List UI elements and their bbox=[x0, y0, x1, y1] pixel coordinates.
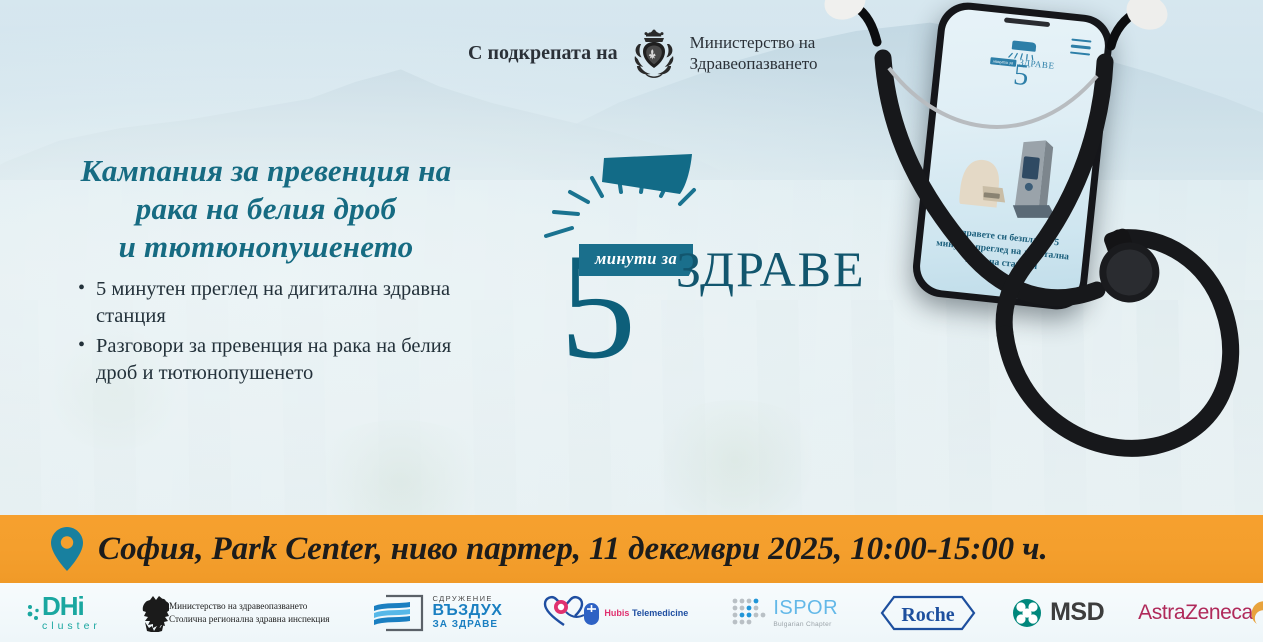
event-details-text: София, Park Center, ниво партер, 11 деке… bbox=[98, 531, 1048, 568]
ministry-line-1: Министерство на bbox=[690, 32, 818, 53]
vazduh-line-2: ВЪЗДУХ bbox=[433, 603, 503, 620]
sponsor-dhi-cluster: DHi cluster bbox=[26, 593, 101, 632]
ministry-line-2: Здравеопазването bbox=[690, 53, 818, 74]
dhi-dots-icon bbox=[26, 602, 42, 624]
sponsor-vazduh-za-zdrave: СДРУЖЕНИЕ ВЪЗДУХ ЗА ЗДРАВЕ bbox=[372, 592, 503, 634]
heart-mouse-icon bbox=[542, 593, 604, 627]
list-item: Разговори за превенция на рака на белия … bbox=[78, 333, 488, 388]
headline-line-3: и тютюнопушенето bbox=[46, 228, 486, 266]
msd-mark-icon bbox=[1012, 598, 1042, 628]
location-pin-icon bbox=[50, 526, 84, 572]
hubis-wordmark: Hubis Telemedicine bbox=[604, 608, 688, 618]
headline-line-2: рака на белия дроб bbox=[46, 190, 486, 228]
astrazeneca-mark-icon bbox=[1251, 588, 1263, 628]
sponsor-roche: Roche bbox=[880, 595, 976, 631]
ministry-support-row: С подкрепата на Министерство н bbox=[468, 28, 817, 78]
poster-canvas: С подкрепата на Министерство н bbox=[0, 0, 1263, 642]
sponsor-hubis-telemedicine: Hubis Telemedicine bbox=[542, 593, 688, 632]
support-label: С подкрепата на bbox=[468, 42, 618, 65]
roche-logo: Roche bbox=[880, 595, 976, 631]
astrazeneca-wordmark: AstraZeneca bbox=[1138, 601, 1253, 625]
ispor-dots-icon bbox=[730, 597, 766, 629]
ministry-name: Министерство на Здравеопазването bbox=[690, 32, 818, 75]
sponsor-srzi: Министерство на здравеопазването Столичн… bbox=[139, 594, 330, 632]
svg-text:Roche: Roche bbox=[901, 604, 954, 626]
list-item: 5 минутен преглед на дигитална здравна с… bbox=[78, 276, 488, 331]
bulgarian-lion-icon bbox=[139, 594, 169, 632]
sponsor-msd: MSD bbox=[1012, 598, 1104, 628]
headline-line-1: Кампания за превенция на bbox=[46, 152, 486, 190]
vazduh-wordmark: СДРУЖЕНИЕ ВЪЗДУХ ЗА ЗДРАВЕ bbox=[433, 595, 503, 630]
sponsor-strip: DHi cluster Министерство на здравеопазва… bbox=[0, 583, 1263, 642]
campaign-logo: 5 минути за ЗДРАВЕ bbox=[524, 148, 854, 388]
air-for-health-icon bbox=[372, 592, 428, 634]
earpiece-right bbox=[1121, 0, 1173, 36]
vazduh-line-3: ЗА ЗДРАВЕ bbox=[433, 620, 503, 631]
feature-list: 5 минутен преглед на дигитална здравна с… bbox=[78, 276, 488, 389]
ispor-subtitle: Bulgarian Chapter bbox=[773, 621, 838, 628]
coat-of-arms-icon bbox=[630, 28, 678, 78]
event-banner: София, Park Center, ниво партер, 11 деке… bbox=[0, 515, 1263, 583]
srzi-line-1: Министерство на здравеопазването bbox=[169, 600, 330, 612]
sponsor-ispor: ISPOR Bulgarian Chapter bbox=[730, 597, 838, 629]
hubis-name-a: Hubis bbox=[604, 608, 629, 618]
dhi-wordmark: DHi bbox=[42, 593, 101, 619]
srzi-line-2: Столична регионална здравна инспекция bbox=[169, 613, 330, 625]
hubis-name-b: Telemedicine bbox=[632, 608, 688, 618]
stethoscope-illustration bbox=[815, 0, 1263, 550]
sponsor-astrazeneca: AstraZeneca bbox=[1138, 588, 1263, 638]
page-title: Кампания за превенция на рака на белия д… bbox=[46, 152, 486, 265]
srzi-name: Министерство на здравеопазването Столичн… bbox=[169, 600, 330, 625]
dhi-subtitle: cluster bbox=[42, 620, 101, 632]
ispor-wordmark: ISPOR bbox=[773, 597, 838, 620]
msd-wordmark: MSD bbox=[1050, 598, 1104, 627]
